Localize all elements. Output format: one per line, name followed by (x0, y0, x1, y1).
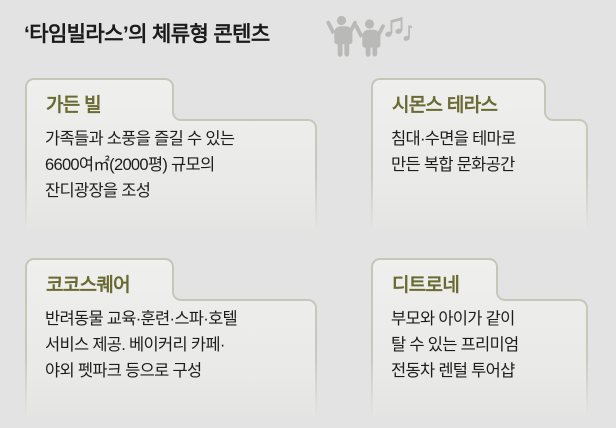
card-body-line: 서비스 제공. 베이커리 카페· (45, 332, 237, 358)
page-title: ‘타임빌라스’의 체류형 콘텐츠 (24, 18, 270, 48)
card-body-line: 6600여㎡(2000평) 규모의 (45, 152, 234, 178)
card-body: 반려동물 교육·훈련·스파·호텔 서비스 제공. 베이커리 카페· 야외 펫파크… (45, 306, 237, 384)
card-heading: 가든 빌 (46, 90, 101, 117)
card-ditrone[interactable]: 디트로네 부모와 아이가 같이 탈 수 있는 프리미엄 전동차 렌털 투어샵 (371, 258, 588, 416)
card-heading: 시몬스 테라스 (392, 90, 497, 117)
card-heading: 코코스퀘어 (46, 270, 130, 297)
card-body-line: 침대·수면을 테마로 (391, 126, 516, 152)
card-body: 가족들과 소풍을 즐길 수 있는 6600여㎡(2000평) 규모의 잔디광장을… (45, 126, 234, 204)
dancing-people-music-icon (326, 12, 412, 58)
card-garden-ville[interactable]: 가든 빌 가족들과 소풍을 즐길 수 있는 6600여㎡(2000평) 규모의 … (25, 78, 317, 230)
header: ‘타임빌라스’의 체류형 콘텐츠 (0, 0, 616, 70)
card-body: 침대·수면을 테마로 만든 복합 문화공간 (391, 126, 516, 178)
card-body-line: 반려동물 교육·훈련·스파·호텔 (45, 306, 237, 332)
card-body: 부모와 아이가 같이 탈 수 있는 프리미엄 전동차 렌털 투어샵 (391, 306, 519, 384)
card-heading: 디트로네 (392, 270, 459, 297)
card-body-line: 전동차 렌털 투어샵 (391, 358, 519, 384)
card-body-line: 부모와 아이가 같이 (391, 306, 519, 332)
card-body-line: 야외 펫파크 등으로 구성 (45, 358, 237, 384)
card-simmons[interactable]: 시몬스 테라스 침대·수면을 테마로 만든 복합 문화공간 (371, 78, 588, 230)
card-body-line: 만든 복합 문화공간 (391, 152, 516, 178)
card-body-line: 가족들과 소풍을 즐길 수 있는 (45, 126, 234, 152)
card-cocos[interactable]: 코코스퀘어 반려동물 교육·훈련·스파·호텔 서비스 제공. 베이커리 카페· … (25, 258, 317, 416)
card-body-line: 잔디광장을 조성 (45, 178, 234, 204)
card-body-line: 탈 수 있는 프리미엄 (391, 332, 519, 358)
